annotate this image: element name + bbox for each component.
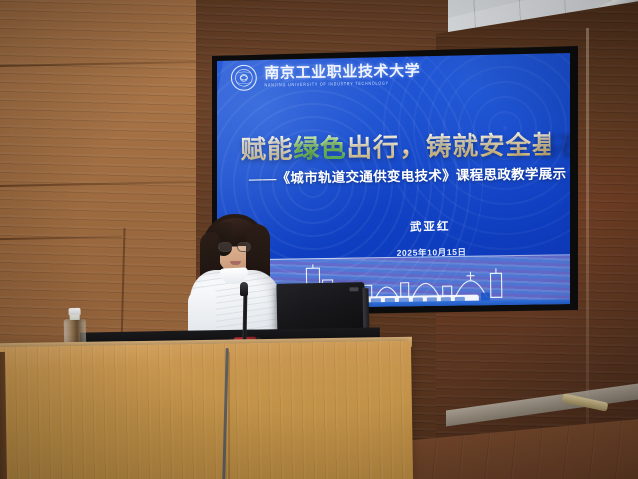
podium-seam (228, 352, 230, 479)
slide-title-part2: 出行，铸就安全基石 (346, 130, 570, 163)
slide-subtitle: ——《城市轨道交通供变电技术》课程思政教学展示 (249, 162, 567, 187)
bottle-cap (69, 308, 81, 315)
slide-title-part1: 赋能 (240, 135, 293, 165)
university-brand: 南京工业职业技术大学 NANJING UNIVERSITY OF INDUSTR… (230, 62, 420, 92)
slide-title: 赋能绿色出行，铸就安全基石 (240, 125, 551, 167)
glasses-lens-right (237, 242, 251, 252)
lecture-hall-photo: 南京工业职业技术大学 NANJING UNIVERSITY OF INDUSTR… (0, 0, 638, 479)
wall-seam (0, 61, 196, 67)
laptop-logo (349, 287, 358, 291)
wall-seam (0, 236, 122, 240)
glasses-icon (218, 242, 253, 252)
slide-title-green: 绿色 (293, 134, 346, 164)
wall-seam (0, 181, 196, 187)
pillar-edge (586, 28, 589, 428)
university-name-cn: 南京工业职业技术大学 (264, 64, 420, 81)
university-name-en: NANJING UNIVERSITY OF INDUSTRY TECHNOLOG… (264, 82, 420, 89)
wall-seam-vertical (120, 228, 125, 346)
podium-front-panel (0, 341, 413, 479)
glasses-lens-left (218, 242, 232, 252)
microphone-head-icon (240, 282, 248, 296)
nanjing-university-seal-icon (230, 64, 257, 91)
